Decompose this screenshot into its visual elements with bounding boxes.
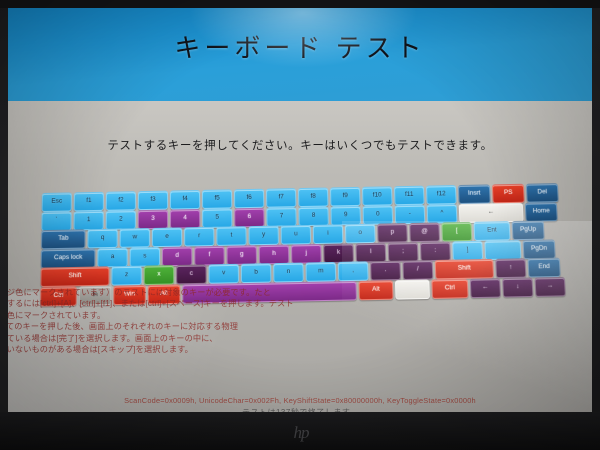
key-PS[interactable]: PS bbox=[492, 184, 525, 204]
key-Insrt[interactable]: Insrt bbox=[458, 184, 491, 204]
key-sym[interactable]: , bbox=[338, 261, 369, 281]
key-1[interactable]: 1 bbox=[73, 210, 103, 230]
key-sym[interactable]: ` bbox=[41, 211, 71, 231]
onscreen-keyboard[interactable]: Escf1f2f3f4f5f6f7f8f9f10f11f12InsrtPSDel… bbox=[40, 183, 566, 286]
instruction-line: 応していないものがある場合は[スキップ]を選択します。 bbox=[8, 344, 382, 355]
key-f10[interactable]: f10 bbox=[362, 186, 393, 206]
key-Ent[interactable]: Ent bbox=[473, 221, 510, 241]
key-8[interactable]: 8 bbox=[298, 206, 329, 226]
key-f2[interactable]: f2 bbox=[106, 191, 136, 211]
key-f8[interactable]: f8 bbox=[298, 188, 328, 208]
key-j[interactable]: j bbox=[291, 243, 322, 263]
key-sym[interactable]: ← bbox=[470, 278, 501, 298]
main-content: テストするキーを押してください。キーはいくつでもテストできます。 Escf1f2… bbox=[8, 101, 592, 412]
screen: キーボード テスト テストするキーを押してください。キーはいくつでもテストできま… bbox=[8, 8, 592, 412]
key-3[interactable]: 3 bbox=[138, 209, 168, 229]
key-f7[interactable]: f7 bbox=[266, 188, 296, 208]
key-5[interactable]: 5 bbox=[202, 208, 232, 228]
key-End[interactable]: End bbox=[527, 258, 560, 278]
key-sym[interactable]: ^ bbox=[427, 204, 458, 224]
key-sym[interactable]: → bbox=[534, 276, 565, 296]
key-e[interactable]: e bbox=[152, 227, 182, 247]
key-sym[interactable]: : bbox=[420, 241, 451, 261]
key-h[interactable]: h bbox=[259, 244, 290, 264]
instruction-prompt: テストするキーを押してください。キーはいくつでもテストできます。 bbox=[8, 137, 592, 153]
key-f12[interactable]: f12 bbox=[426, 185, 457, 205]
key-f1[interactable]: f1 bbox=[74, 192, 104, 212]
page-title: キーボード テスト bbox=[8, 28, 592, 65]
key-u[interactable]: u bbox=[281, 225, 312, 245]
instruction-paragraph: オレンジ色にマークされています）のテストには対象のキーが必要です。たとテストする… bbox=[8, 287, 382, 355]
instruction-line: オレンジ色にマークされています）のテストには対象のキーが必要です。たと bbox=[8, 287, 382, 298]
key-f11[interactable]: f11 bbox=[394, 186, 425, 206]
key-c[interactable]: c bbox=[176, 264, 206, 284]
instruction-line: ーは灰色にマークされています。 bbox=[8, 310, 382, 321]
key-Esc[interactable]: Esc bbox=[42, 192, 72, 212]
instruction-line: テストするには[ctrl]+[A]、[ctrl]+[f1]、または[ctrl]+… bbox=[8, 298, 382, 309]
key-sym[interactable]: ← bbox=[459, 202, 524, 222]
key-w[interactable]: w bbox=[120, 228, 150, 248]
key-sym[interactable]: - bbox=[395, 204, 426, 224]
key-Del[interactable]: Del bbox=[526, 183, 559, 203]
key-Tab[interactable]: Tab bbox=[41, 229, 86, 249]
key-sym[interactable]: ] bbox=[452, 240, 483, 260]
key-b[interactable]: b bbox=[241, 263, 272, 283]
key-q[interactable]: q bbox=[87, 229, 117, 249]
key-g[interactable]: g bbox=[227, 245, 257, 265]
key-p[interactable]: p bbox=[377, 223, 408, 243]
key-y[interactable]: y bbox=[248, 226, 278, 246]
key-sym[interactable]: ; bbox=[388, 242, 419, 262]
key-sym[interactable]: ↑ bbox=[495, 258, 526, 278]
key-f9[interactable]: f9 bbox=[330, 187, 361, 207]
key-4[interactable]: 4 bbox=[170, 208, 200, 228]
key-f4[interactable]: f4 bbox=[170, 190, 200, 210]
key-v[interactable]: v bbox=[208, 264, 239, 284]
key-Alt[interactable]: Alt bbox=[358, 280, 393, 300]
monitor-bezel-top bbox=[0, 0, 600, 8]
key-a[interactable]: a bbox=[97, 247, 127, 267]
key-PgUp[interactable]: PgUp bbox=[512, 220, 545, 240]
key-z[interactable]: z bbox=[111, 266, 141, 286]
key-Capslock[interactable]: Caps lock bbox=[41, 248, 96, 268]
key-Shift[interactable]: Shift bbox=[40, 266, 109, 287]
key-0[interactable]: 0 bbox=[362, 205, 393, 225]
key-k[interactable]: k bbox=[323, 243, 354, 263]
key-r[interactable]: r bbox=[184, 227, 214, 247]
key-f6[interactable]: f6 bbox=[234, 189, 264, 209]
key-m[interactable]: m bbox=[305, 262, 336, 282]
key-d[interactable]: d bbox=[162, 246, 192, 266]
instruction-line: のすべてのキーを押した後、画面上のそれぞれのキーに対応する物理 bbox=[8, 321, 382, 332]
app-header: キーボード テスト bbox=[8, 8, 592, 101]
hp-logo: hp bbox=[284, 424, 318, 442]
key-6[interactable]: 6 bbox=[234, 207, 264, 227]
key-sym[interactable]: [ bbox=[441, 222, 472, 242]
key-s[interactable]: s bbox=[130, 247, 160, 267]
key-x[interactable]: x bbox=[144, 265, 174, 285]
key-i[interactable]: i bbox=[313, 224, 344, 244]
device-photo: キーボード テスト テストするキーを押してください。キーはいくつでもテストできま… bbox=[0, 0, 600, 450]
key-o[interactable]: o bbox=[345, 224, 376, 244]
key-sym[interactable]: @ bbox=[409, 222, 440, 242]
key-sym[interactable]: / bbox=[402, 260, 433, 280]
key-sym[interactable]: ↓ bbox=[502, 277, 533, 297]
key-9[interactable]: 9 bbox=[330, 205, 361, 225]
scan-code-status: ScanCode=0x0009h, UnicodeChar=0x002Fh, K… bbox=[8, 396, 592, 405]
key-PgDn[interactable]: PgDn bbox=[523, 239, 556, 259]
key-sym[interactable]: . bbox=[370, 261, 401, 281]
key-t[interactable]: t bbox=[216, 226, 246, 246]
key-f[interactable]: f bbox=[194, 245, 224, 265]
instruction-line: が点いている場合は[完了]を選択します。画面上のキーの中に、 bbox=[8, 333, 382, 344]
key-Ctrl[interactable]: Ctrl bbox=[431, 278, 468, 298]
key-2[interactable]: 2 bbox=[106, 210, 136, 230]
key-blank[interactable] bbox=[395, 279, 430, 299]
key-l[interactable]: l bbox=[355, 242, 386, 262]
key-f5[interactable]: f5 bbox=[202, 189, 232, 209]
key-f3[interactable]: f3 bbox=[138, 191, 168, 211]
key-Home[interactable]: Home bbox=[525, 202, 558, 222]
key-7[interactable]: 7 bbox=[266, 207, 296, 227]
key-n[interactable]: n bbox=[273, 263, 304, 283]
key-blank[interactable] bbox=[484, 240, 521, 260]
key-Shift[interactable]: Shift bbox=[435, 259, 494, 280]
